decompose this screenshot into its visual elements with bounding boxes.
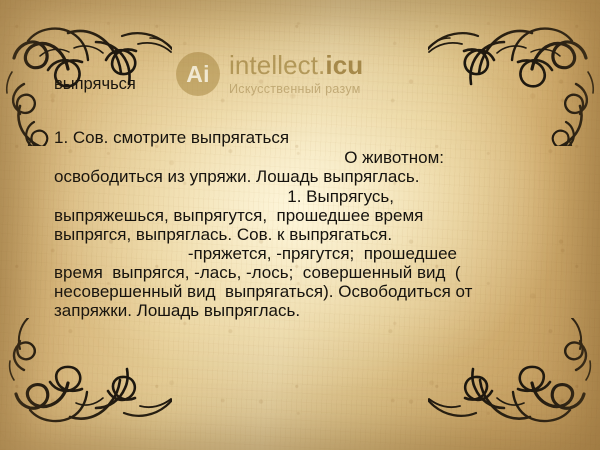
- dictionary-entry: выпрячься 1. Сов. смотрите выпрягаться О…: [0, 0, 600, 450]
- entry-headword: выпрячься: [54, 74, 136, 96]
- parchment-page: Ai intellect.icu Искусственный разум вып…: [0, 0, 600, 450]
- entry-line: запряжки. Лошадь выпряглась.: [54, 300, 300, 323]
